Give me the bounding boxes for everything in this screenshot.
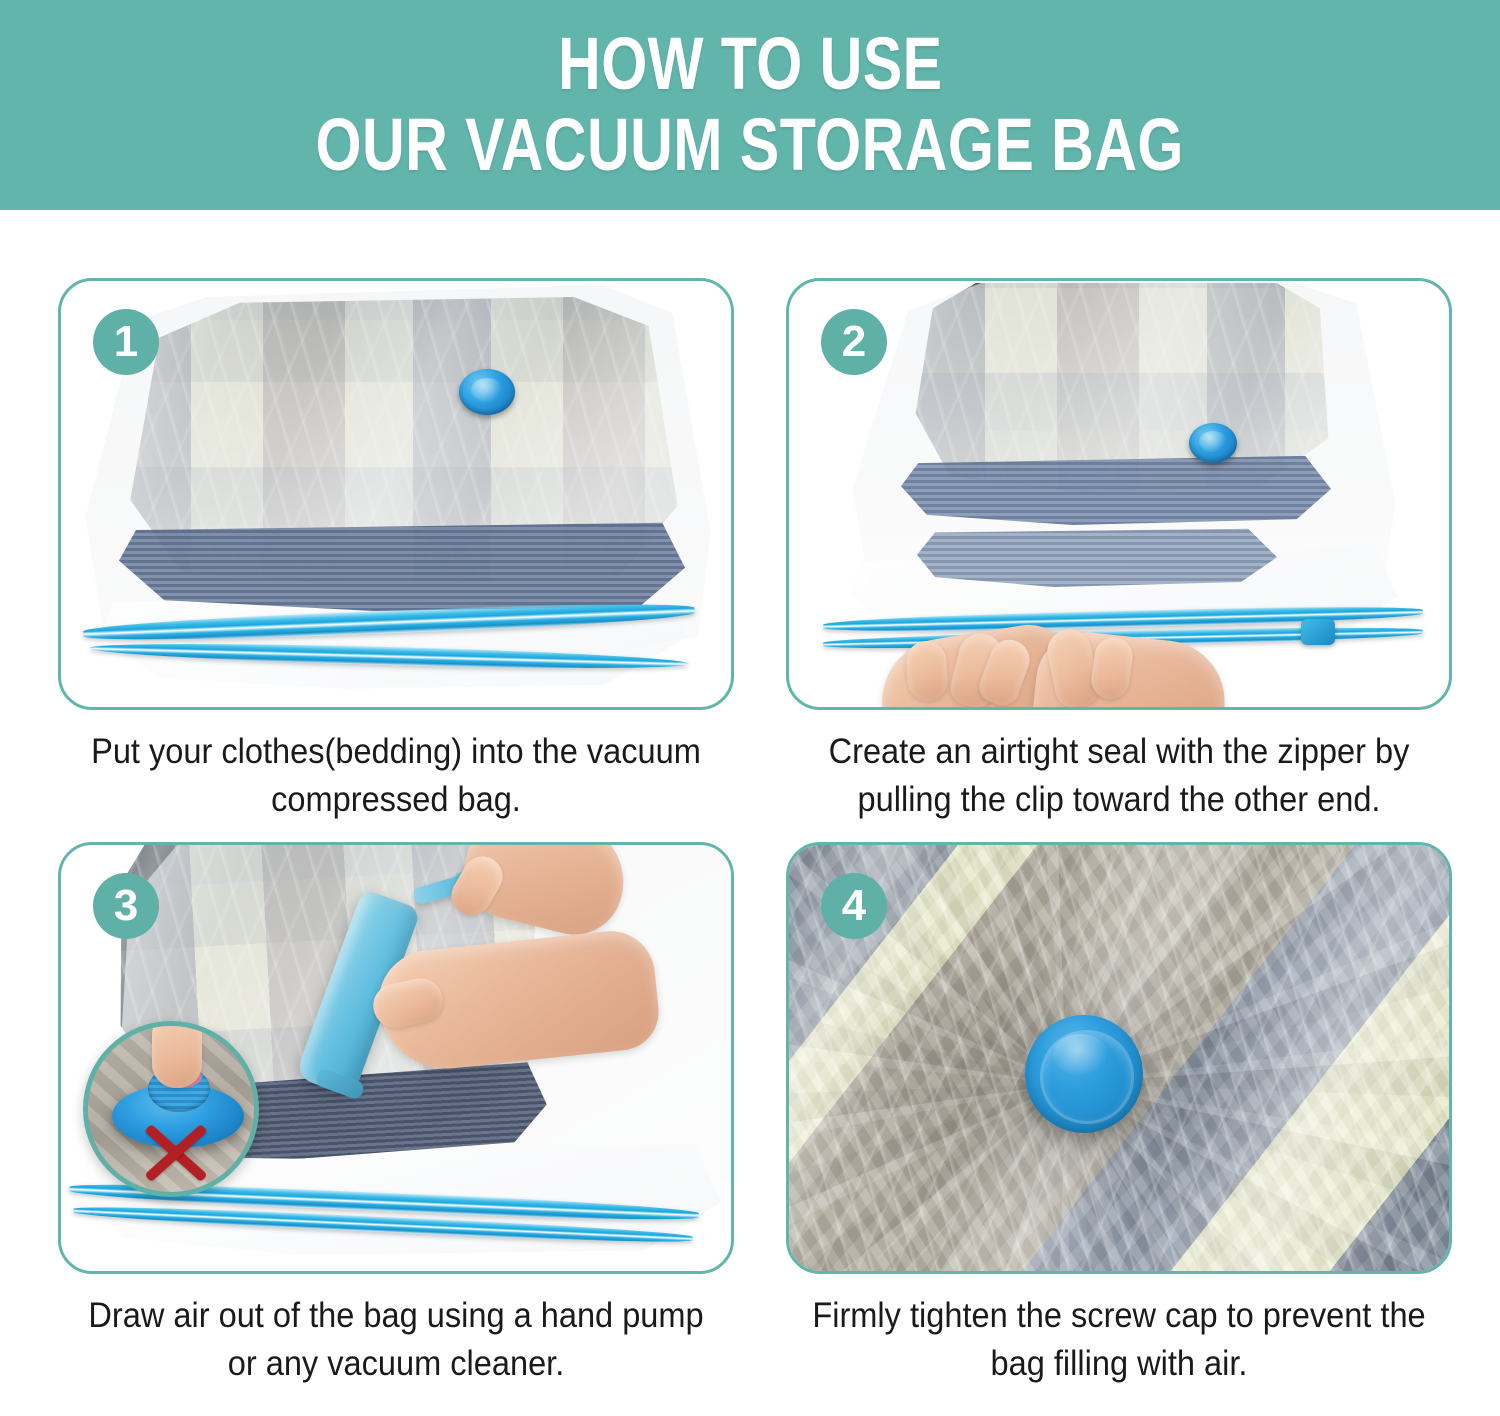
valve-cap-icon-2 — [1189, 423, 1237, 463]
step-4-photo — [789, 845, 1449, 1271]
step-4-caption: Firmly tighten the screw cap to prevent … — [809, 1292, 1428, 1387]
step-1-frame: 1 — [58, 278, 734, 710]
step-2-panel: 2 — [786, 278, 1452, 710]
step-4-frame: 4 — [786, 842, 1452, 1274]
infographic-page: HOW TO USE OUR VACUUM STORAGE BAG — [0, 0, 1500, 1416]
inset-pressing-finger — [152, 1021, 202, 1088]
left-hand-thumb — [905, 640, 949, 703]
header-title-line-2: OUR VACUUM STORAGE BAG — [316, 109, 1184, 182]
header-title-line-1: HOW TO USE — [558, 28, 942, 101]
step-1-photo — [61, 281, 731, 707]
steps-grid: 1 — [0, 210, 1500, 1416]
denim-band-1 — [119, 521, 685, 611]
step-4-badge: 4 — [821, 873, 887, 939]
step-2-photo — [789, 281, 1449, 707]
zipper-clip — [1301, 619, 1335, 645]
step-2-frame: 2 — [786, 278, 1452, 710]
screw-cap — [1025, 1015, 1143, 1133]
header-banner: HOW TO USE OUR VACUUM STORAGE BAG — [0, 0, 1500, 210]
valve-warning-inset — [83, 1021, 259, 1197]
step-3-panel: 3 — [58, 842, 734, 1274]
step-1-badge: 1 — [93, 309, 159, 375]
step-3-caption: Draw air out of the bag using a hand pum… — [82, 1292, 711, 1387]
do-not-press-x-icon — [138, 1122, 214, 1184]
step-2-badge: 2 — [821, 309, 887, 375]
step-1-caption: Put your clothes(bedding) into the vacuu… — [82, 728, 711, 823]
step-3-badge: 3 — [93, 873, 159, 939]
step-3-photo — [61, 845, 731, 1271]
step-3-frame: 3 — [58, 842, 734, 1274]
step-2-caption: Create an airtight seal with the zipper … — [809, 728, 1428, 823]
step-1-panel: 1 — [58, 278, 734, 710]
denim-roll-2-top — [901, 453, 1331, 525]
denim-roll-2-bottom — [917, 525, 1277, 587]
step-4-panel: 4 — [786, 842, 1452, 1274]
valve-cap-icon — [459, 369, 515, 415]
